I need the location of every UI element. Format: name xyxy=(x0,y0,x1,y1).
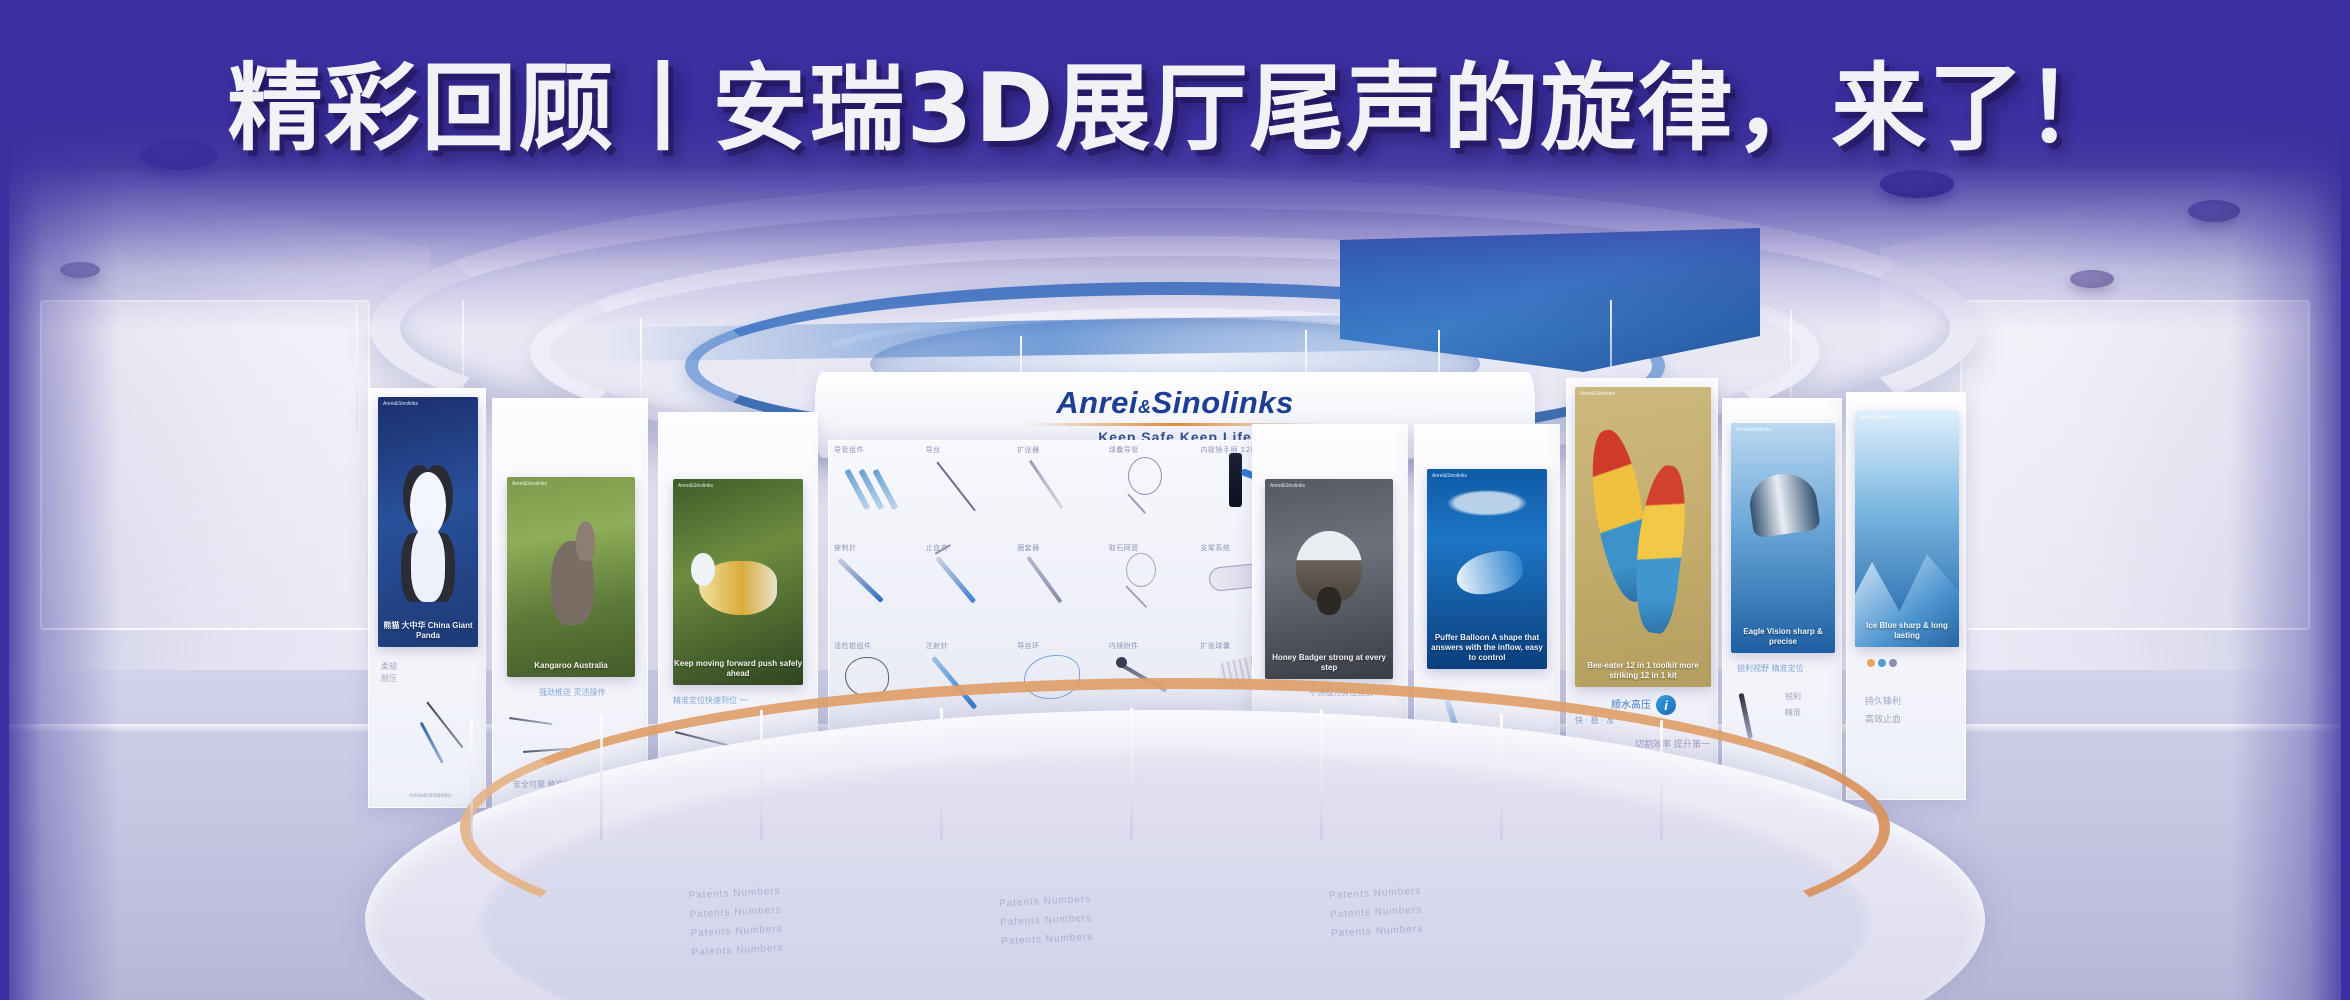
instrument-graphic xyxy=(935,556,976,604)
stage-text-column: Patents Numbers Patents Numbers Patents … xyxy=(999,890,1094,952)
poster-caption: 熊猫 大中华 China Giant Panda xyxy=(378,621,478,641)
exhibition-banner: Anrei&Sinolinks Keep Safe Keep Life Anre… xyxy=(0,0,2350,1000)
instrument-graphic xyxy=(936,461,976,511)
instrument-graphic xyxy=(1126,553,1156,587)
panel-note: 锐利精准 xyxy=(1785,689,1801,721)
instrument-label: 内镜附件 xyxy=(1109,641,1191,651)
brand-name-right: Sinolinks xyxy=(1151,385,1293,420)
instrument-label: 穿刺针 xyxy=(834,543,916,553)
poster-brand-label: Anrei&Sinolinks xyxy=(1580,391,1615,397)
instrument-label: 注射针 xyxy=(926,641,1008,651)
poster-puffer-balloon[interactable]: Anrei&Sinolinks Puffer Balloon A shape t… xyxy=(1427,469,1547,669)
display-pillar-panda[interactable]: Anrei&Sinolinks 熊猫 大中华 China Giant Panda… xyxy=(368,388,486,808)
dot-icon xyxy=(1889,659,1897,667)
poster-subtitle-panda: 柔韧 耐压 xyxy=(381,661,397,685)
icon-row xyxy=(1867,659,1897,667)
poster-brand-label: Anrei&Sinolinks xyxy=(1270,483,1305,489)
instrument-label: 导丝 xyxy=(926,445,1008,455)
brand-logo-text: Anrei&Sinolinks xyxy=(1056,385,1294,421)
instrument-graphic xyxy=(837,558,884,603)
instrument-graphic xyxy=(1127,493,1146,514)
wall-panel-left xyxy=(40,300,370,630)
info-icon: i xyxy=(1656,695,1676,715)
instrument-cell[interactable]: 止血夹 xyxy=(921,539,1013,637)
instrument-graphic xyxy=(1116,657,1127,668)
hanger-wire xyxy=(356,300,358,430)
instrument-label: 圈套器 xyxy=(1017,543,1099,553)
instrument-label: 扩张器 xyxy=(1017,445,1099,455)
instrument-graphic xyxy=(1125,585,1147,608)
ceiling-spotlight xyxy=(2070,270,2114,288)
instrument-graphic xyxy=(1029,460,1064,510)
instrument-cell[interactable]: 导管组件 xyxy=(829,441,921,539)
rail-post xyxy=(1500,714,1503,840)
stage-text-column: Patents Numbers Patents Numbers Patents … xyxy=(1329,882,1424,944)
instrument-label: 取石网篮 xyxy=(1109,543,1191,553)
rail-post xyxy=(470,720,473,840)
instrument-graphic xyxy=(1229,453,1242,507)
poster-frog[interactable]: Anrei&Sinolinks Keep moving forward push… xyxy=(673,479,803,685)
poster-kangaroo[interactable]: Anrei&Sinolinks Kangaroo Australia xyxy=(507,477,635,677)
poster-brand-label: Anrei&Sinolinks xyxy=(383,401,418,407)
poster-iceberg[interactable]: Anrei&Sinolinks Ice Blue sharp & long la… xyxy=(1855,411,1959,647)
pillar-footer-note: Anrei&Sinolinks xyxy=(409,792,451,801)
instrument-label: 导管组件 xyxy=(834,445,916,455)
poster-caption: Eagle Vision sharp & precise xyxy=(1731,627,1835,647)
panel-note: 持久锋利高效止血 xyxy=(1865,693,1901,729)
poster-subtitle-kangaroo: 强劲推送 灵活操作 xyxy=(539,687,606,699)
dot-icon xyxy=(1878,659,1886,667)
poster-caption: Ice Blue sharp & long lasting xyxy=(1855,621,1959,641)
poster-subtitle-frog: 精准定位快速到位 一 xyxy=(673,695,748,707)
poster-caption: Kangaroo Australia xyxy=(507,661,635,671)
poster-eagle[interactable]: Anrei&Sinolinks Eagle Vision sharp & pre… xyxy=(1731,423,1835,653)
poster-honey-badger[interactable]: Anrei&Sinolinks Honey Badger strong at e… xyxy=(1265,479,1393,679)
instrument-cell[interactable]: 圈套器 xyxy=(1012,539,1104,637)
rail-post xyxy=(600,714,603,840)
instrument-graphic xyxy=(509,717,553,725)
poster-brand-label: Anrei&Sinolinks xyxy=(1736,427,1771,433)
poster-brand-label: Anrei&Sinolinks xyxy=(1860,415,1895,421)
rail-post xyxy=(940,708,943,840)
instrument-graphic xyxy=(1739,693,1753,739)
rail-post xyxy=(760,710,763,840)
rail-post xyxy=(1320,710,1323,840)
ceiling-spotlight xyxy=(2188,200,2240,222)
poster-caption: Bee-eater 12 in 1 toolkit more striking … xyxy=(1575,661,1711,681)
rail-post xyxy=(1130,708,1133,840)
poster-caption: Puffer Balloon A shape that answers with… xyxy=(1427,633,1547,663)
page-title: 精彩回顾丨安瑞3D展厅尾声的旋律，来了！ xyxy=(0,32,2350,169)
poster-brand-label: Anrei&Sinolinks xyxy=(678,483,713,489)
poster-panda[interactable]: Anrei&Sinolinks 熊猫 大中华 China Giant Panda xyxy=(378,397,478,647)
instrument-cell[interactable]: 球囊导管 xyxy=(1104,441,1196,539)
instrument-graphic xyxy=(1027,556,1063,604)
display-panel-iceberg[interactable]: Anrei&Sinolinks Ice Blue sharp & long la… xyxy=(1846,392,1966,800)
instrument-label: 球囊导管 xyxy=(1109,445,1191,455)
poster-brand-label: Anrei&Sinolinks xyxy=(1432,473,1467,479)
dot-icon xyxy=(1867,659,1875,667)
ceiling-spotlight xyxy=(1880,170,1954,198)
poster-caption: Keep moving forward push safely ahead xyxy=(673,659,803,679)
instrument-graphic xyxy=(1128,457,1162,495)
brand-name-left: Anrei xyxy=(1056,385,1138,420)
ceiling-spotlight xyxy=(60,262,100,278)
instrument-cell[interactable]: 穿刺针 xyxy=(829,539,921,637)
poster-bee-eater[interactable]: Anrei&Sinolinks Bee-eater 12 in 1 toolki… xyxy=(1575,387,1711,687)
instrument-graphic xyxy=(420,722,444,764)
poster-caption: Honey Badger strong at every step xyxy=(1265,653,1393,673)
instrument-cell[interactable]: 导丝 xyxy=(921,441,1013,539)
instrument-cell[interactable]: 取石网篮 xyxy=(1104,539,1196,637)
instrument-cell[interactable]: 扩张器 xyxy=(1012,441,1104,539)
stage-rail xyxy=(460,678,1890,978)
wall-panel-right xyxy=(1960,300,2310,630)
panel-note: 锐利视野 精准定位 xyxy=(1737,663,1804,675)
instrument-label: 导丝环 xyxy=(1017,641,1099,651)
poster-brand-label: Anrei&Sinolinks xyxy=(512,481,547,487)
brand-ampersand: & xyxy=(1138,397,1152,417)
instrument-label: 活检钳组件 xyxy=(834,641,916,651)
stage-text-column: Patents Numbers Patents Numbers Patents … xyxy=(688,882,784,963)
rail-post xyxy=(1660,720,1663,840)
